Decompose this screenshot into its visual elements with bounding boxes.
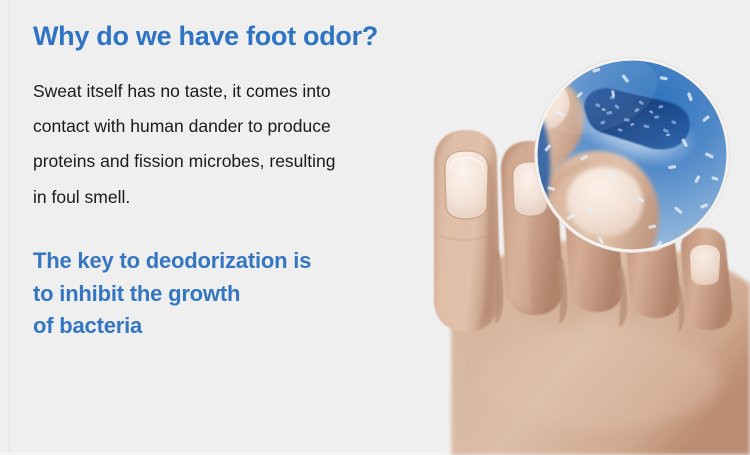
page-title: Why do we have foot odor? (33, 22, 453, 52)
body-paragraph: Sweat itself has no taste, it comes into… (33, 74, 433, 215)
magnified-toe-upper (470, 76, 584, 212)
body-line-4: in foul smell. (33, 187, 130, 207)
foot-body (452, 240, 750, 455)
magnified-toe-lower-right (667, 220, 750, 324)
large-bacterium (560, 73, 708, 182)
magnified-toe-center (531, 151, 659, 290)
third-toe (563, 162, 623, 312)
magnifier-circle (470, 44, 750, 324)
second-toe-nail (513, 162, 548, 216)
second-toe (501, 141, 563, 315)
key-message-heading: The key to deodorization is to inhibit t… (33, 245, 453, 343)
left-edge-seam-secondary (10, 0, 11, 455)
foot-odor-infographic: Why do we have foot odor? Sweat itself h… (0, 0, 750, 455)
magnifier-ring (536, 59, 728, 251)
toe-gaps (493, 250, 684, 332)
subhead-line-1: The key to deodorization is (33, 245, 453, 278)
body-line-2: contact with human dander to produce (33, 116, 331, 136)
third-toe-nail (573, 182, 607, 229)
body-line-3: proteins and fission microbes, resulting (33, 151, 336, 171)
fourth-toe (624, 190, 680, 318)
fourth-toe-nail (633, 208, 666, 252)
left-edge-seam (8, 0, 9, 455)
subhead-line-2: to inhibit the growth (33, 278, 453, 311)
little-toe (681, 228, 732, 330)
small-bacteria (544, 68, 719, 248)
subhead-line-3: of bacteria (33, 310, 453, 343)
little-toe-nail (690, 245, 720, 285)
text-column: Why do we have foot odor? Sweat itself h… (33, 22, 453, 343)
body-line-1: Sweat itself has no taste, it comes into (33, 81, 331, 101)
